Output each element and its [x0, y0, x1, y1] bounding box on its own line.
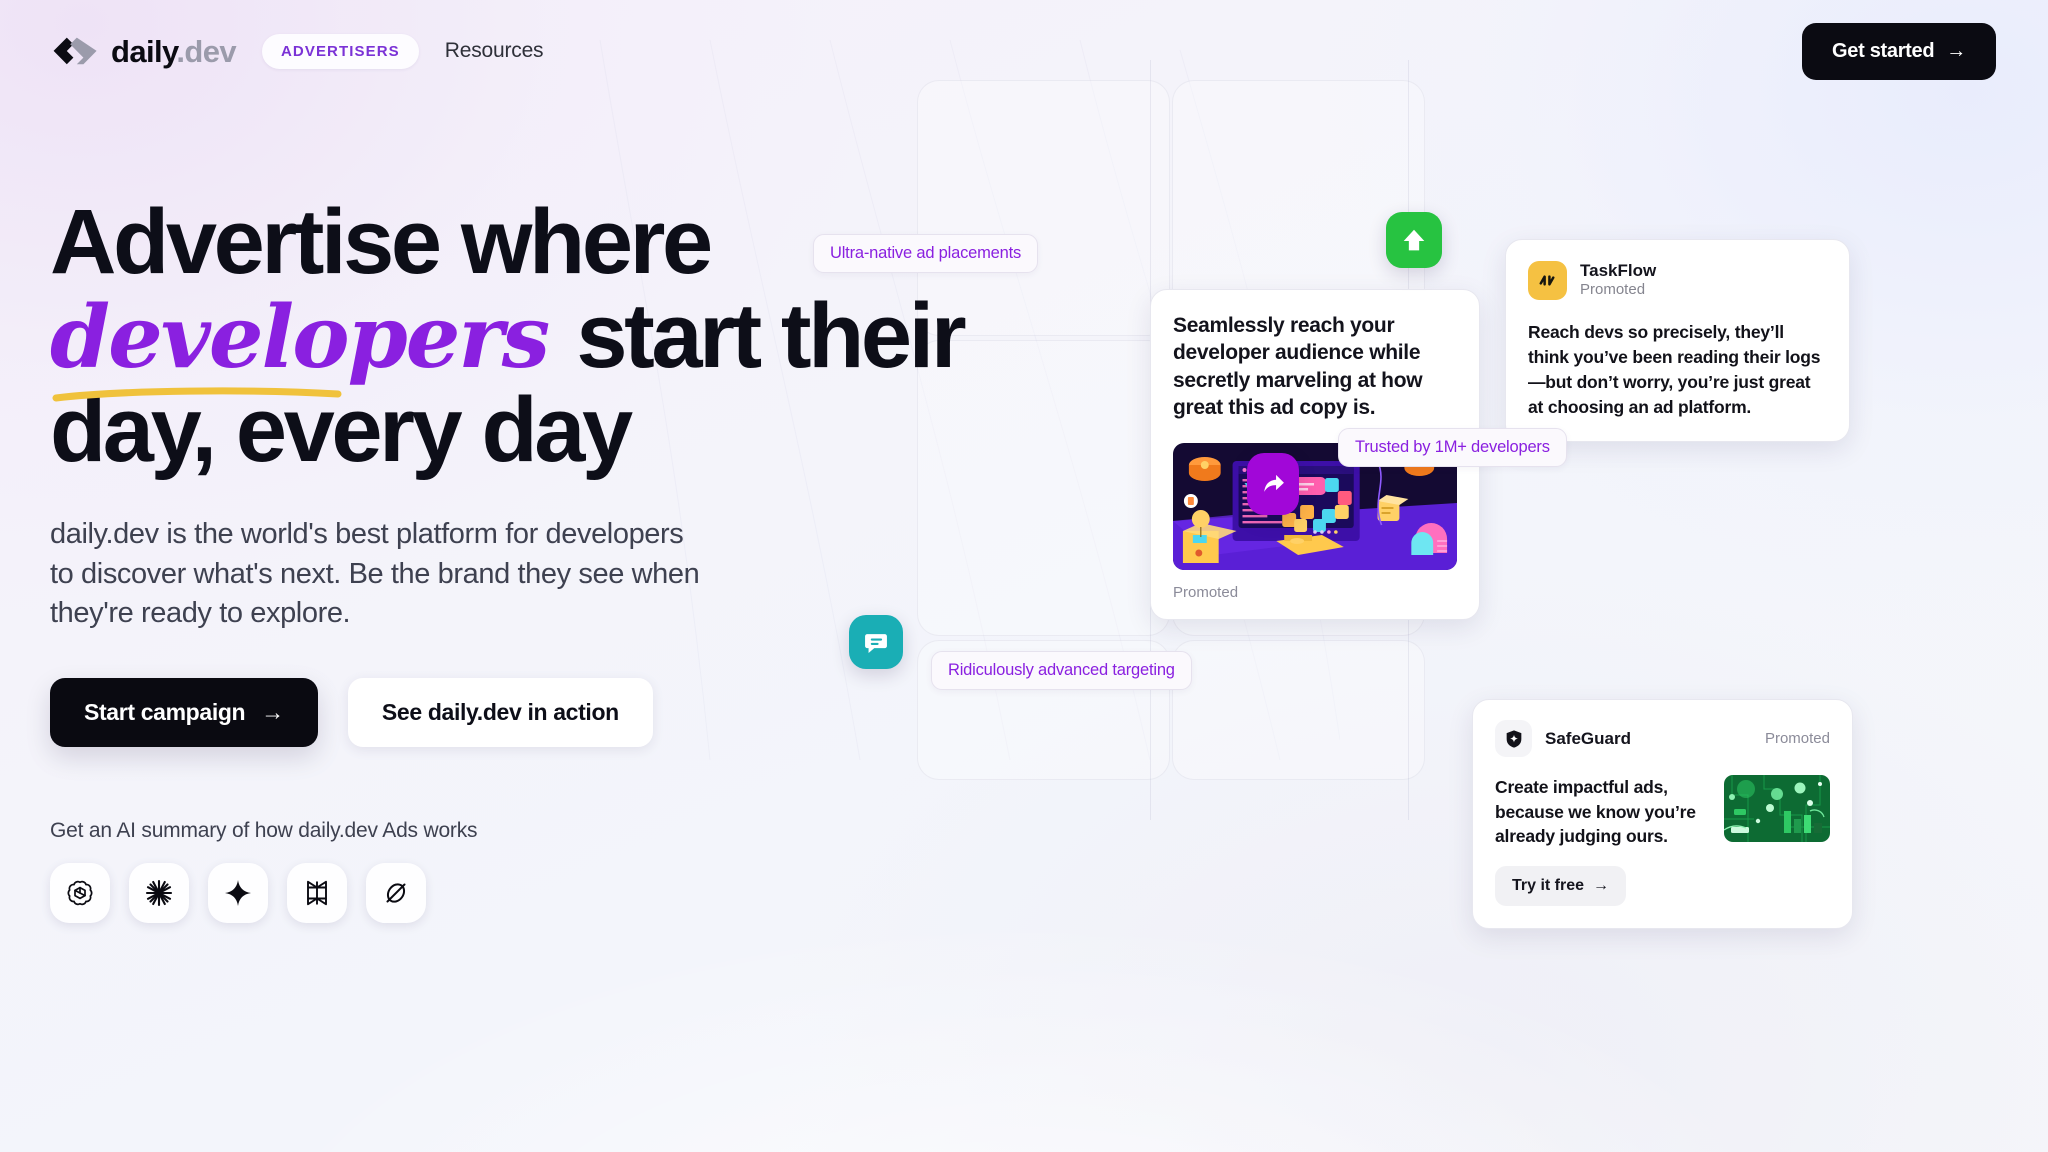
ad-card-safeguard[interactable]: SafeGuard Promoted Create impactful ads,…	[1472, 699, 1853, 929]
hero-subhead: daily.dev is the world's best platform f…	[50, 515, 710, 633]
ad-card-header: SafeGuard Promoted	[1495, 720, 1830, 757]
ad-card-content-row: Create impactful ads, because we know yo…	[1495, 775, 1830, 906]
get-started-button[interactable]: Get started →	[1802, 23, 1996, 80]
nav-item-advertisers[interactable]: ADVERTISERS	[262, 34, 419, 69]
share-icon	[1247, 453, 1299, 515]
top-navbar: daily.dev ADVERTISERS Resources Get star…	[0, 0, 2048, 102]
nav-links: ADVERTISERS Resources	[262, 31, 559, 71]
ad-card-taskflow[interactable]: TaskFlow Promoted Reach devs so precisel…	[1505, 239, 1850, 442]
ai-provider-gemini[interactable]	[208, 863, 268, 923]
brand-logo[interactable]: daily.dev	[52, 36, 236, 67]
see-in-action-button[interactable]: See daily.dev in action	[348, 678, 653, 747]
pill-trusted-by: Trusted by 1M+ developers	[1338, 428, 1567, 467]
start-campaign-button[interactable]: Start campaign →	[50, 678, 318, 747]
start-campaign-label: Start campaign	[84, 699, 245, 726]
get-started-label: Get started	[1832, 40, 1934, 63]
ad-card-brand: SafeGuard	[1545, 729, 1631, 749]
ai-summary-label: Get an AI summary of how daily.dev Ads w…	[50, 819, 950, 843]
grok-icon	[380, 877, 412, 909]
ad-card-brand-block: TaskFlow Promoted	[1580, 260, 1656, 300]
brand-wordmark: daily.dev	[111, 36, 236, 67]
hero-section: Advertise where developers start their d…	[50, 196, 950, 923]
daily-dev-logo-icon	[52, 36, 98, 66]
try-it-free-label: Try it free	[1512, 877, 1584, 895]
headline-line-2-rest: start their	[554, 285, 963, 387]
headline-line-1: Advertise where	[50, 196, 950, 290]
page-title: Advertise where developers start their d…	[50, 196, 950, 477]
ad-card-title: Seamlessly reach your developer audience…	[1173, 312, 1457, 421]
arrow-right-icon: →	[1946, 40, 1966, 63]
safeguard-shield-icon	[1495, 720, 1532, 757]
openai-icon	[64, 877, 96, 909]
gemini-icon	[222, 877, 254, 909]
ad-card-header: TaskFlow Promoted	[1528, 260, 1827, 300]
try-it-free-button[interactable]: Try it free →	[1495, 866, 1626, 906]
promoted-badge: Promoted	[1173, 584, 1457, 601]
headline-emphasis: developers	[50, 287, 548, 388]
see-in-action-label: See daily.dev in action	[382, 699, 619, 726]
ai-provider-openai[interactable]	[50, 863, 110, 923]
headline-line-3: day, every day	[50, 384, 950, 478]
arrow-right-icon: →	[261, 699, 284, 726]
hero-cta-row: Start campaign → See daily.dev in action	[50, 678, 950, 747]
brand-name: daily	[111, 34, 176, 69]
nav-item-resources[interactable]: Resources	[429, 31, 560, 71]
ad-card-body: Create impactful ads, because we know yo…	[1495, 775, 1708, 849]
promoted-badge: Promoted	[1765, 730, 1830, 747]
pill-advanced-targeting: Ridiculously advanced targeting	[931, 651, 1192, 690]
taskflow-logo-icon	[1528, 261, 1567, 300]
ghost-card	[1172, 640, 1425, 780]
ai-provider-perplexity[interactable]	[287, 863, 347, 923]
page-root: daily.dev ADVERTISERS Resources Get star…	[0, 0, 2048, 1152]
headline-emphasis-wrap: developers	[50, 290, 554, 384]
ad-card-body: Reach devs so precisely, they’ll think y…	[1528, 320, 1827, 419]
green-circuit-thumbnail	[1724, 775, 1830, 842]
ads-collage: Seamlessly reach your developer audience…	[1150, 0, 2048, 1152]
perplexity-icon	[301, 877, 333, 909]
claude-icon	[143, 877, 175, 909]
ai-provider-row	[50, 863, 950, 923]
upvote-icon	[1386, 212, 1442, 268]
promoted-badge: Promoted	[1580, 281, 1656, 300]
ai-provider-grok[interactable]	[366, 863, 426, 923]
ad-card-brand: TaskFlow	[1580, 260, 1656, 281]
ai-provider-claude[interactable]	[129, 863, 189, 923]
arrow-right-icon: →	[1593, 877, 1609, 895]
ad-card-copy-block: Create impactful ads, because we know yo…	[1495, 775, 1708, 906]
headline-line-2: developers start their	[50, 290, 950, 384]
brand-tld: .dev	[176, 34, 236, 69]
